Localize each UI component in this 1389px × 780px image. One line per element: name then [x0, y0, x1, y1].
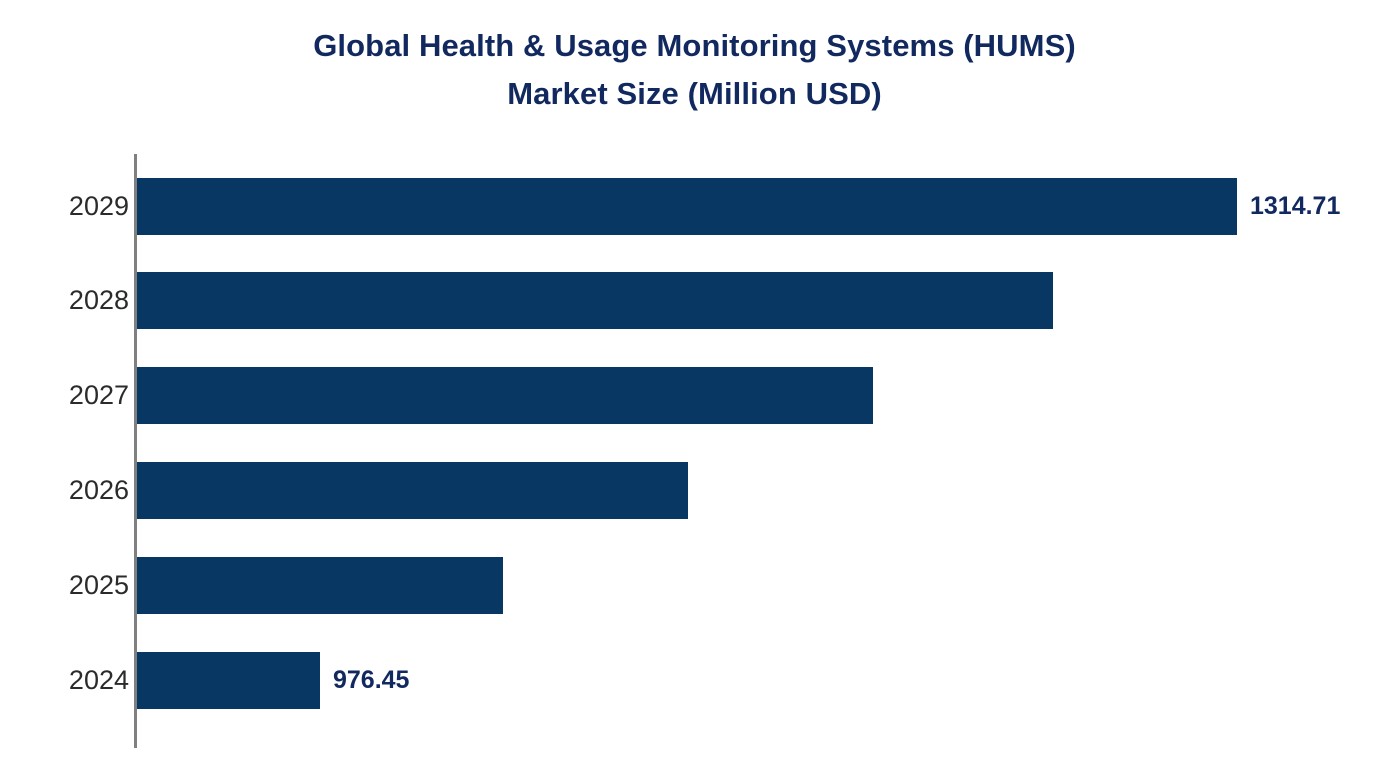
bar-2028[interactable] — [137, 272, 1053, 329]
bar-2025[interactable] — [137, 557, 503, 614]
bar-2027[interactable] — [137, 367, 873, 424]
chart-figure: Global Health & Usage Monitoring Systems… — [0, 0, 1389, 780]
y-tick-label-2025: 2025 — [69, 557, 129, 614]
bar-row: 2026 — [0, 462, 1389, 519]
y-tick-label-2029: 2029 — [69, 178, 129, 235]
y-tick-label-2026: 2026 — [69, 462, 129, 519]
bar-value-label-2024: 976.45 — [333, 652, 409, 709]
y-tick-label-2028: 2028 — [69, 272, 129, 329]
y-tick-label-2024: 2024 — [69, 652, 129, 709]
bar-row: 2028 — [0, 272, 1389, 329]
bar-2026[interactable] — [137, 462, 688, 519]
bar-row: 2027 — [0, 367, 1389, 424]
y-tick-label-2027: 2027 — [69, 367, 129, 424]
bar-row: 2025 — [0, 557, 1389, 614]
bar-row: 2024 976.45 — [0, 652, 1389, 709]
bar-2024[interactable] — [137, 652, 320, 709]
bar-value-label-2029: 1314.71 — [1250, 178, 1340, 235]
bar-row: 2029 1314.71 — [0, 178, 1389, 235]
plot-area: 2029 1314.71 2028 2027 2026 2025 — [0, 0, 1389, 780]
bar-2029[interactable] — [137, 178, 1237, 235]
